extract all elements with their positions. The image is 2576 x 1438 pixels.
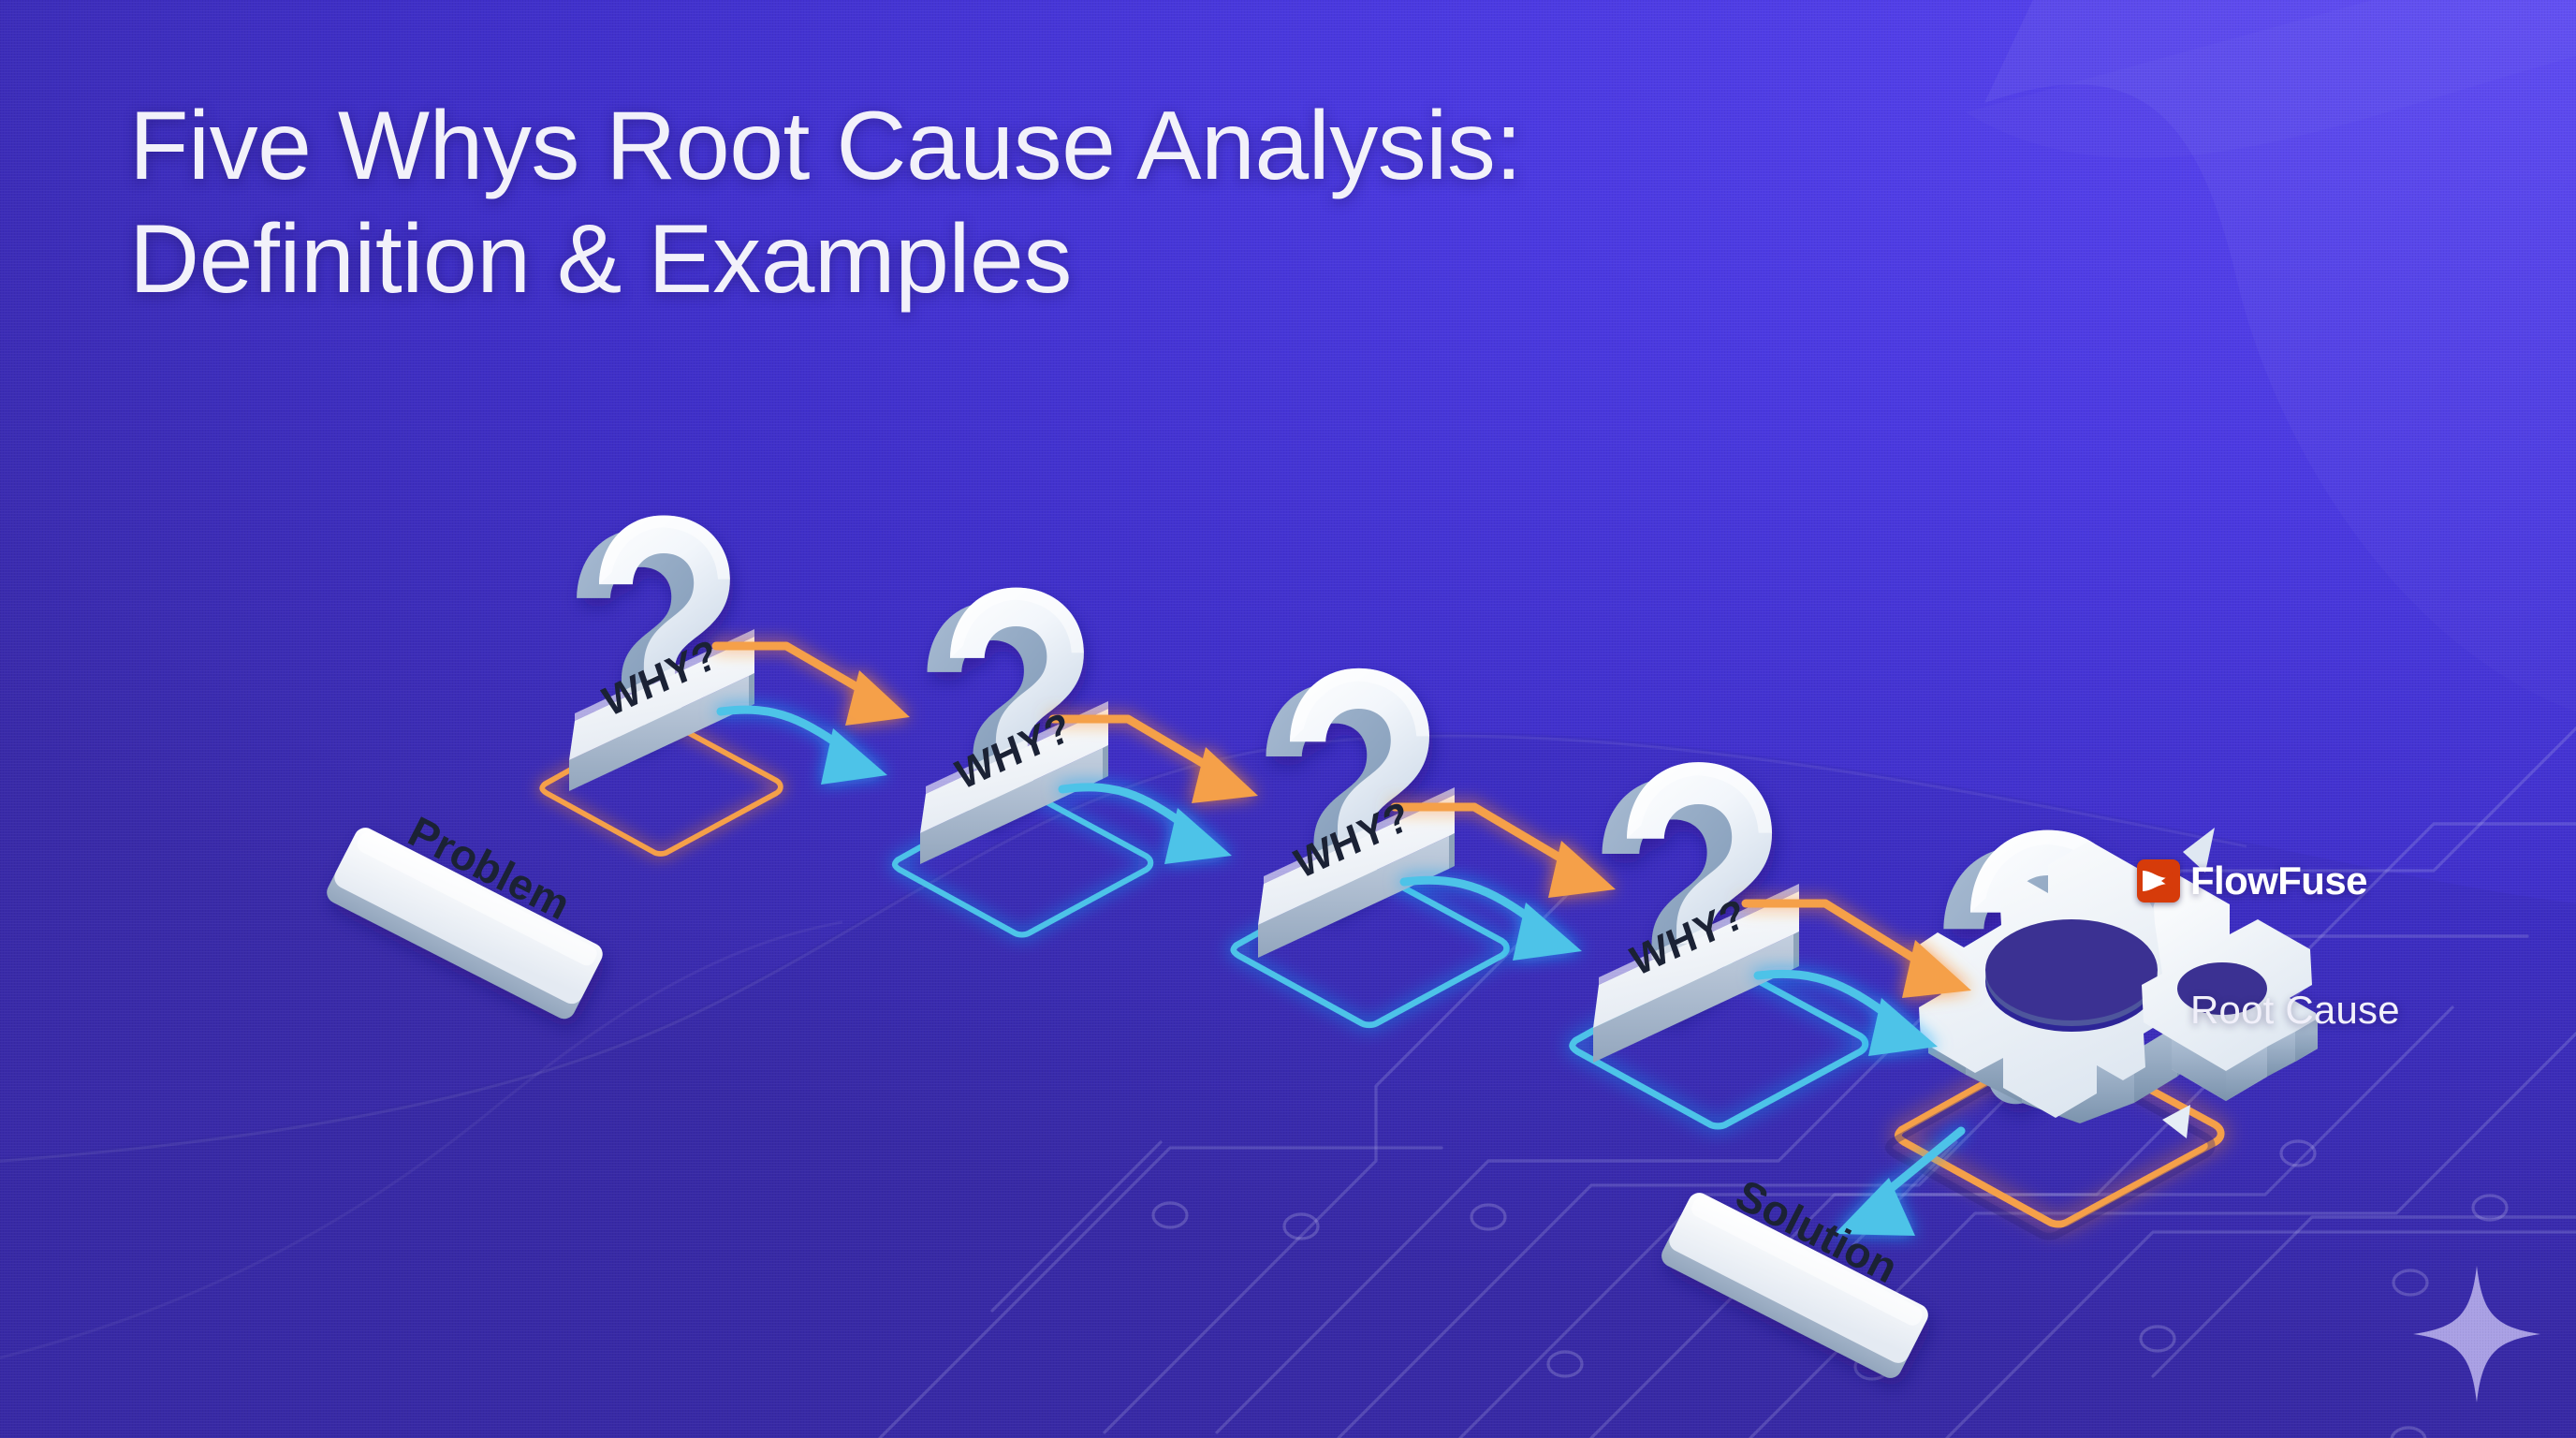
five-whys-diagram bbox=[0, 0, 2576, 1438]
flowfuse-logo[interactable]: FlowFuse bbox=[2137, 858, 2367, 903]
problem-plate bbox=[323, 824, 607, 1022]
why-station-3 bbox=[1258, 668, 1455, 958]
flowfuse-wordmark: FlowFuse bbox=[2190, 858, 2367, 903]
why-station-4 bbox=[1593, 762, 1799, 1063]
flowfuse-mark-icon bbox=[2137, 859, 2180, 902]
why-station-1 bbox=[569, 516, 754, 791]
hero-banner: Five Whys Root Cause Analysis: Definitio… bbox=[0, 0, 2576, 1438]
root-cause-label: Root Cause bbox=[2190, 988, 2400, 1033]
